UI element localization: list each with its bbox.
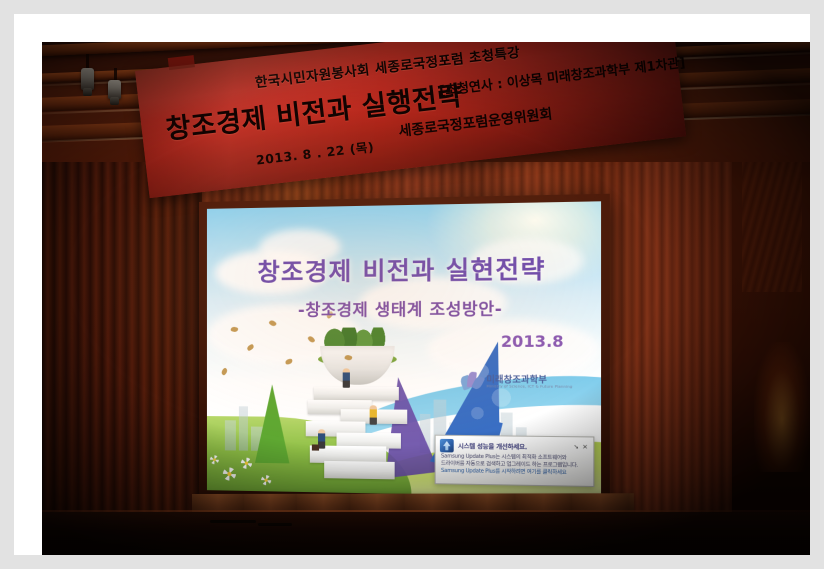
auditorium-photo: 한국시민자원봉사회 세종로국정포럼 초청특강 창조경제 비전과 실행전략 [초청… <box>42 42 810 555</box>
photo-frame: 한국시민자원봉사회 세종로국정포럼 초청특강 창조경제 비전과 실행전략 [초청… <box>0 0 824 569</box>
photo-vignette <box>42 42 810 555</box>
photo-mat: 한국시민자원봉사회 세종로국정포럼 초청특강 창조경제 비전과 실행전략 [초청… <box>14 14 810 555</box>
